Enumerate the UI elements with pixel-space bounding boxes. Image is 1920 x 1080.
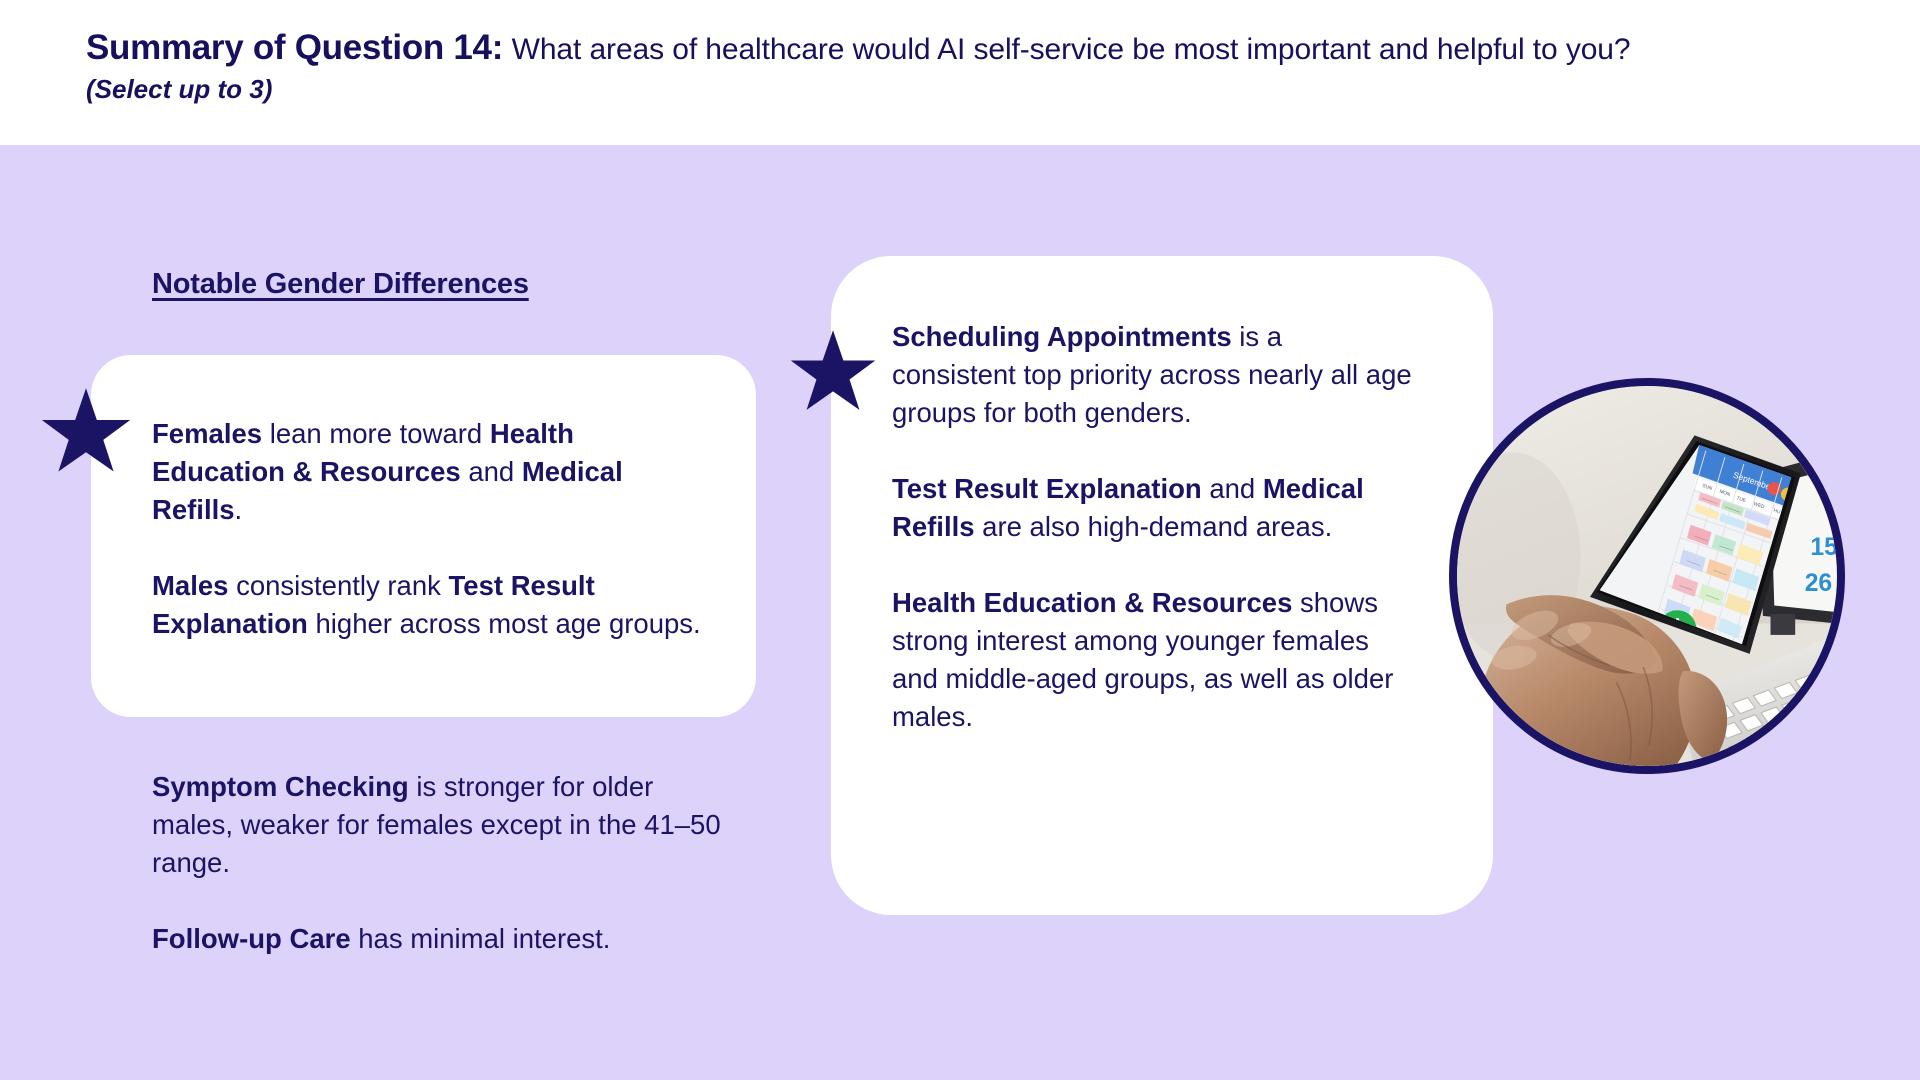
page-title: Summary of Question 14: What areas of he… — [86, 28, 1866, 70]
term-symptom-checking: Symptom Checking — [152, 771, 409, 802]
header-content: Summary of Question 14: What areas of he… — [86, 28, 1866, 106]
question-instruction: (Select up to 3) — [86, 72, 1866, 106]
header-band: Summary of Question 14: What areas of he… — [0, 0, 1920, 145]
text-run: . — [235, 494, 243, 525]
additional-findings-text: Symptom Checking is stronger for older m… — [152, 768, 732, 958]
term-scheduling-appointments: Scheduling Appointments — [892, 321, 1232, 352]
gender-differences-card-text: Females lean more toward Health Educatio… — [152, 415, 712, 643]
svg-text:15: 15 — [1810, 534, 1837, 561]
paragraph-follow-up-care: Follow-up Care has minimal interest. — [152, 920, 732, 958]
gender-differences-card: Females lean more toward Health Educatio… — [91, 355, 756, 717]
slide-canvas: Summary of Question 14: What areas of he… — [0, 0, 1920, 1080]
key-findings-card-text: Scheduling Appointments is a consistent … — [892, 318, 1412, 736]
term-males: Males — [152, 570, 228, 601]
text-run: lean more toward — [262, 418, 490, 449]
paragraph-scheduling-appointments: Scheduling Appointments is a consistent … — [892, 318, 1412, 432]
term-females: Females — [152, 418, 262, 449]
paragraph-health-education-resources: Health Education & Resources shows stron… — [892, 584, 1412, 736]
key-findings-card: Scheduling Appointments is a consistent … — [831, 256, 1493, 915]
photo-hand-phone-calendar: 15 26 — [1449, 378, 1845, 774]
section-heading: Notable Gender Differences — [152, 268, 529, 301]
paragraph-symptom-checking: Symptom Checking is stronger for older m… — [152, 768, 732, 882]
text-run: consistently rank — [228, 570, 448, 601]
text-run: has minimal interest. — [351, 923, 611, 954]
text-run: and — [1202, 473, 1263, 504]
text-run: and — [461, 456, 522, 487]
question-text: What areas of healthcare would AI self-s… — [512, 33, 1631, 66]
text-run: higher across most age groups. — [308, 608, 701, 639]
term-test-result-explanation: Test Result Explanation — [892, 473, 1202, 504]
paragraph-males: Males consistently rank Test Result Expl… — [152, 567, 712, 643]
term-health-education-resources: Health Education & Resources — [892, 587, 1292, 618]
svg-text:26: 26 — [1805, 570, 1832, 597]
paragraph-females: Females lean more toward Health Educatio… — [152, 415, 712, 529]
text-run: are also high-demand areas. — [975, 511, 1333, 542]
term-follow-up-care: Follow-up Care — [152, 923, 351, 954]
paragraph-test-result-explanation: Test Result Explanation and Medical Refi… — [892, 470, 1412, 546]
photo-image: 15 26 — [1457, 386, 1837, 766]
question-label: Summary of Question 14: — [86, 28, 503, 67]
